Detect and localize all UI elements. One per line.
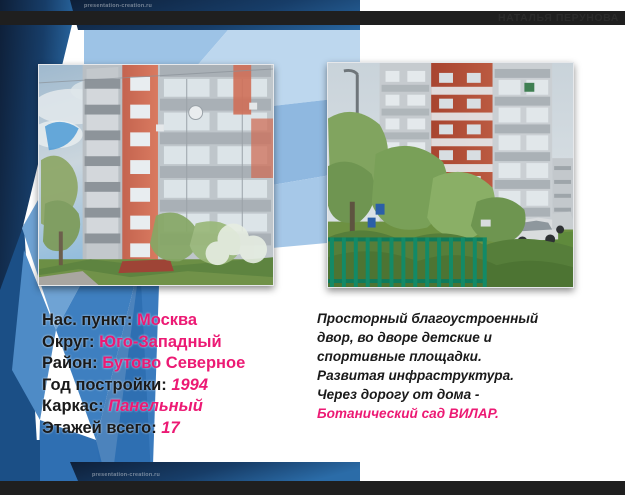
building-specs-list: Нас. пункт: Москва Округ: Юго-Западный Р… bbox=[42, 310, 297, 439]
photo-building-facade-graphic bbox=[39, 65, 273, 285]
watermark-bottom: presentation-creation.ru bbox=[92, 472, 160, 478]
description-block: Просторный благоустроенный двор, во двор… bbox=[317, 309, 607, 423]
spec-label: Округ: bbox=[42, 333, 99, 351]
spec-row: Район: Бутово Северное bbox=[42, 353, 297, 375]
watermark-top: presentation-creation.ru bbox=[84, 3, 152, 9]
description-line: Развитая инфраструктура. bbox=[317, 366, 607, 385]
spec-value: 17 bbox=[161, 419, 179, 437]
spec-row: Каркас: Панельный bbox=[42, 396, 297, 418]
spec-row: Год постройки: 1994 bbox=[42, 375, 297, 397]
slide-canvas: НАТАЛЬЯ ПЕРУНОВА presentation-creation.r… bbox=[0, 0, 625, 495]
spec-label: Нас. пункт: bbox=[42, 311, 137, 329]
spec-label: Этажей всего: bbox=[42, 419, 161, 437]
bottom-dark-band bbox=[0, 481, 625, 495]
spec-label: Каркас: bbox=[42, 397, 108, 415]
description-line: Через дорогу от дома - bbox=[317, 385, 607, 404]
spec-label: Год постройки: bbox=[42, 376, 171, 394]
spec-row: Нас. пункт: Москва bbox=[42, 310, 297, 332]
description-line: двор, во дворе детские и bbox=[317, 328, 607, 347]
photo-building-yard-graphic bbox=[328, 63, 573, 287]
photo-building-facade[interactable] bbox=[38, 64, 274, 286]
spec-value: Бутово Северное bbox=[102, 354, 245, 372]
spec-row: Этажей всего: 17 bbox=[42, 418, 297, 440]
spec-value: Юго-Западный bbox=[99, 333, 222, 351]
author-label: НАТАЛЬЯ ПЕРУНОВА bbox=[498, 11, 619, 25]
spec-label: Район: bbox=[42, 354, 102, 372]
description-line: Просторный благоустроенный bbox=[317, 309, 607, 328]
spec-value: 1994 bbox=[171, 376, 208, 394]
spec-value: Панельный bbox=[108, 397, 203, 415]
description-line-accent: Ботанический сад ВИЛАР. bbox=[317, 404, 607, 423]
description-line: спортивные площадки. bbox=[317, 347, 607, 366]
spec-value: Москва bbox=[137, 311, 197, 329]
spec-row: Округ: Юго-Западный bbox=[42, 332, 297, 354]
photo-building-yard[interactable] bbox=[327, 62, 574, 288]
